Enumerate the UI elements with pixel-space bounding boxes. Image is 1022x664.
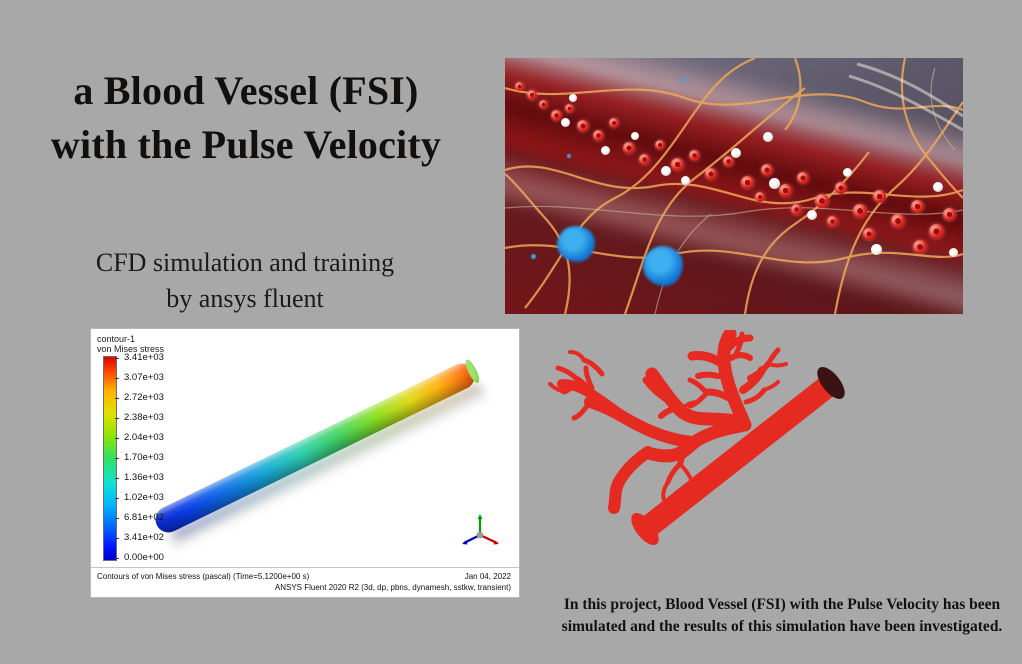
subtitle: CFD simulation and training by ansys flu… (0, 245, 490, 317)
white-blood-cell (661, 166, 671, 176)
legend-tick: 1.70e+03 (117, 453, 203, 463)
legend-tick-label: 3.41e+03 (124, 352, 164, 363)
legend-body: 3.41e+03 3.07e+03 2.72e+03 2.38e+03 2.04… (97, 356, 205, 561)
blue-cell-cluster-1 (557, 226, 595, 262)
red-blood-cell (565, 104, 574, 113)
red-blood-cell (761, 164, 773, 176)
legend-tick: 3.41e+03 (117, 353, 203, 363)
red-blood-cell (943, 208, 956, 221)
cylinder-end-cap (463, 358, 482, 385)
contour-canvas: contour-1 von Mises stress 3.41e+03 3.07… (91, 329, 519, 567)
white-blood-cell (681, 176, 690, 185)
artery-illustration (540, 330, 890, 560)
project-caption: In this project, Blood Vessel (FSI) with… (552, 594, 1012, 638)
red-blood-cell (671, 158, 684, 171)
white-blood-cell (763, 132, 773, 142)
contour-footer-title: Contours of von Mises stress (pascal) (T… (97, 572, 309, 581)
white-blood-cell (769, 178, 780, 189)
blue-speck-2 (681, 78, 685, 82)
legend-tick-label: 6.81e+02 (124, 512, 164, 523)
white-blood-cell (807, 210, 817, 220)
legend-title-line-1: contour-1 (97, 334, 205, 344)
legend-tick: 3.07e+03 (117, 373, 203, 383)
red-blood-cell (835, 182, 847, 194)
contour-legend: contour-1 von Mises stress 3.41e+03 3.07… (97, 334, 205, 561)
red-blood-cell (527, 90, 537, 100)
white-blood-cell (949, 248, 958, 257)
blue-speck-1 (531, 254, 536, 259)
red-blood-cell (873, 190, 886, 203)
legend-tick-label: 1.70e+03 (124, 452, 164, 463)
page-title: a Blood Vessel (FSI) with the Pulse Velo… (0, 64, 492, 172)
legend-tick: 1.02e+03 (117, 493, 203, 503)
red-blood-cell (797, 172, 809, 184)
red-blood-cell (609, 118, 619, 128)
subtitle-line-1: CFD simulation and training (0, 245, 490, 281)
legend-tick: 2.72e+03 (117, 393, 203, 403)
legend-tick-label: 1.36e+03 (124, 472, 164, 483)
red-blood-cell (689, 150, 700, 161)
red-blood-cell (623, 142, 635, 154)
legend-tick: 0.00e+00 (117, 553, 203, 563)
blue-speck-3 (567, 154, 571, 158)
white-blood-cell (631, 132, 639, 140)
red-blood-cell (791, 204, 802, 215)
fluent-contour-panel: contour-1 von Mises stress 3.41e+03 3.07… (90, 328, 520, 598)
legend-tick: 3.41e+02 (117, 533, 203, 543)
red-blood-cell (911, 200, 924, 213)
red-blood-cell (551, 110, 562, 121)
white-blood-cell (601, 146, 610, 155)
red-blood-cell (891, 214, 905, 228)
contour-footer-solver: ANSYS Fluent 2020 R2 (3d, dp, pbns, dyna… (275, 583, 511, 592)
legend-tick: 2.04e+03 (117, 433, 203, 443)
red-blood-cell (755, 192, 765, 202)
legend-tick-label: 3.41e+02 (124, 532, 164, 543)
legend-tick-label: 1.02e+03 (124, 492, 164, 503)
red-blood-cell (863, 228, 875, 240)
axis-triad-icon (459, 511, 501, 553)
blood-vessel-photo (505, 58, 963, 314)
red-blood-cell (539, 100, 548, 109)
red-blood-cell (723, 156, 734, 167)
contour-footer: Contours of von Mises stress (pascal) (T… (91, 567, 519, 597)
legend-tick: 2.38e+03 (117, 413, 203, 423)
legend-tick-label: 2.38e+03 (124, 412, 164, 423)
red-blood-cell (593, 130, 604, 141)
legend-tick-label: 2.04e+03 (124, 432, 164, 443)
white-blood-cell (569, 94, 577, 102)
red-blood-cell (655, 140, 665, 150)
white-blood-cell (933, 182, 943, 192)
subtitle-line-2: by ansys fluent (0, 281, 490, 317)
red-blood-cell (639, 154, 650, 165)
red-blood-cell (853, 204, 867, 218)
title-line-2: with the Pulse Velocity (0, 118, 492, 172)
legend-tick-label: 2.72e+03 (124, 392, 164, 403)
blue-cell-cluster-2 (643, 246, 683, 286)
contour-footer-date: Jan 04, 2022 (465, 572, 511, 581)
red-blood-cell (515, 82, 524, 91)
title-line-1: a Blood Vessel (FSI) (0, 64, 492, 118)
red-blood-cell (929, 224, 944, 239)
red-blood-cell (577, 120, 589, 132)
legend-color-bar (103, 356, 117, 561)
white-blood-cell (731, 148, 741, 158)
red-blood-cell (779, 184, 792, 197)
legend-tick-label: 0.00e+00 (124, 552, 164, 563)
white-blood-cell (871, 244, 882, 255)
legend-tick-label: 3.07e+03 (124, 372, 164, 383)
red-blood-cell (827, 216, 838, 227)
legend-tick: 1.36e+03 (117, 473, 203, 483)
red-blood-cell (815, 194, 829, 208)
red-blood-cell (913, 240, 927, 254)
artery-branches (550, 334, 786, 508)
red-blood-cell (741, 176, 754, 189)
presentation-slide: a Blood Vessel (FSI) with the Pulse Velo… (0, 0, 1022, 664)
legend-tick: 6.81e+02 (117, 513, 203, 523)
red-blood-cell (705, 168, 717, 180)
white-blood-cell (843, 168, 852, 177)
white-blood-cell (561, 118, 570, 127)
